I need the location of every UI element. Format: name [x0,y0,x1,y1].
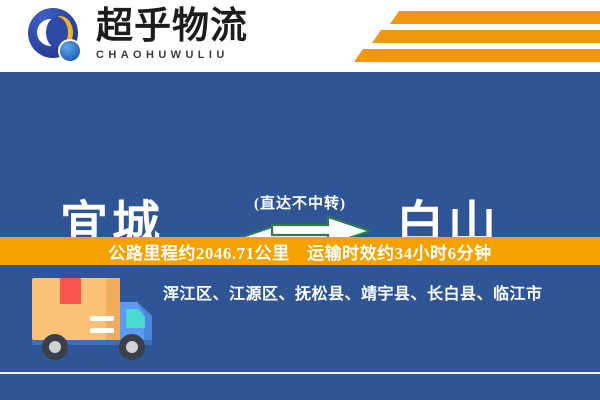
delivery-truck-icon [32,276,157,362]
circle-crescent-logo-icon [26,8,86,66]
decor-stripe-1 [390,11,600,24]
route-panel: 宜城 (直达不中转) 【往返运输】 白山 [0,72,600,237]
logistics-route-banner: 超乎物流 CHAOHUWULIU 宜城 (直达不中转) 【往返运输】 白山 公路… [0,0,600,400]
brand-name-en: CHAOHUWULIU [96,49,248,61]
logo-small-dot [60,41,80,61]
decor-stripe-3 [354,49,600,62]
coverage-districts-text: 浑江区、江源区、抚松县、靖宇县、长白县、临江市 [163,280,583,304]
route-note-top: (直达不中转) [0,192,600,213]
decor-stripe-2 [372,30,600,43]
coverage-panel: 浑江区、江源区、抚松县、靖宇县、长白县、临江市 [0,265,600,400]
distance-info-text: 公路里程约2046.71公里 运输时效约34小时6分钟 [108,239,491,264]
brand-name-cn: 超乎物流 [96,6,248,48]
banner-header: 超乎物流 CHAOHUWULIU [0,0,600,72]
distance-info-bar: 公路里程约2046.71公里 运输时效约34小时6分钟 [0,237,600,265]
brand-block: 超乎物流 CHAOHUWULIU [96,6,248,61]
panel-divider [0,372,600,374]
